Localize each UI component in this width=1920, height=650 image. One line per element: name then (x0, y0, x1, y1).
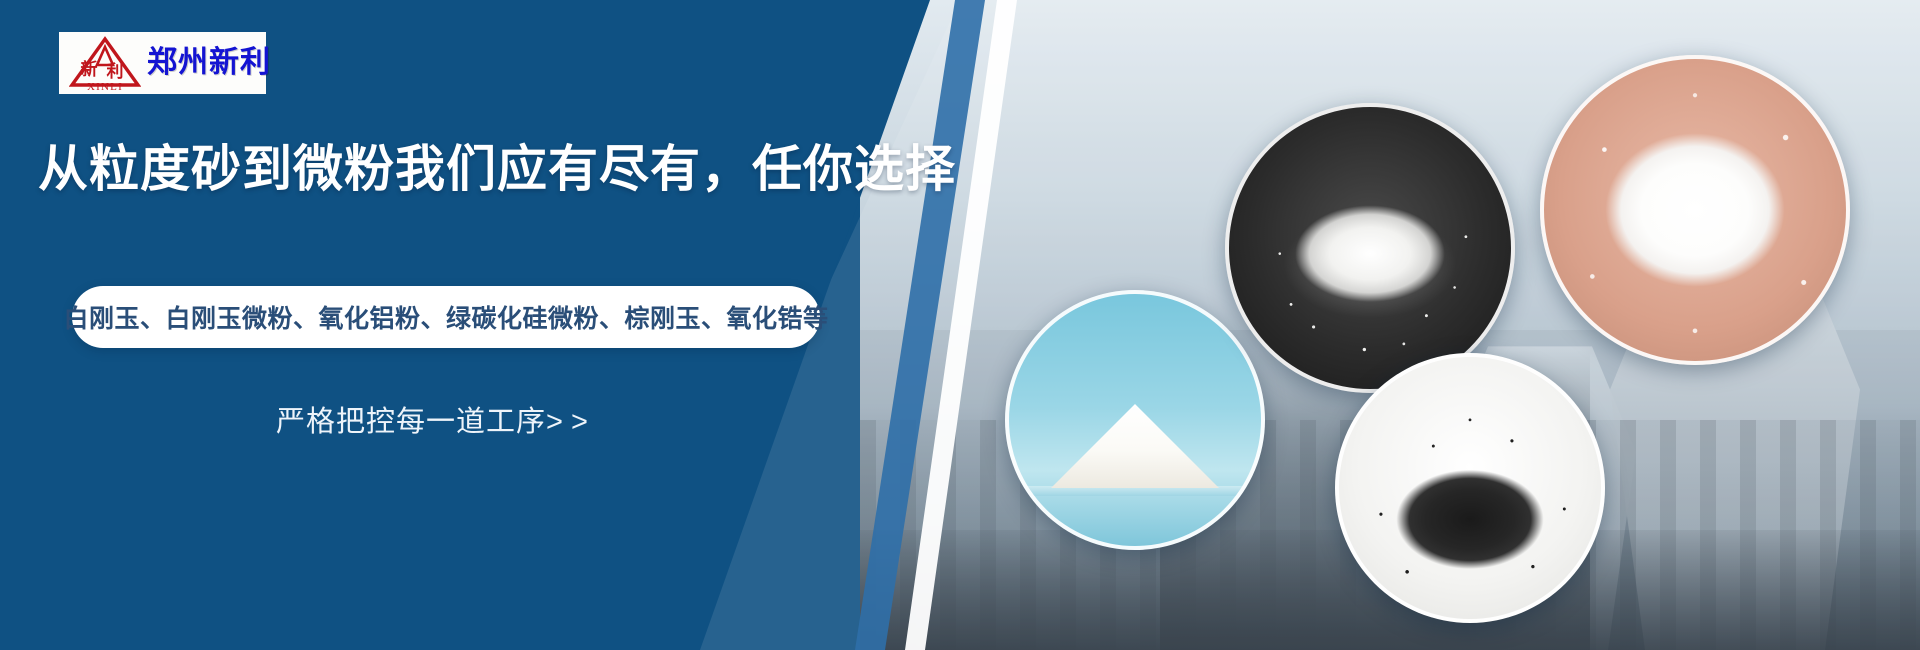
product-list-text: 白刚玉、白刚玉微粉、氧化铝粉、绿碳化硅微粉、棕刚玉、氧化锆等 (64, 299, 829, 335)
svg-text:XINLI: XINLI (87, 81, 123, 91)
powder-cone (1051, 404, 1219, 488)
product-circle-white-micro-powder (1540, 55, 1850, 365)
headline: 从粒度砂到微粉我们应有尽有，任你选择 (38, 141, 956, 197)
black-grit-particles (1339, 357, 1601, 619)
svg-text:利: 利 (107, 61, 124, 81)
cta-arrow-icon: > > (546, 406, 588, 438)
product-circle-alumina-powder (1005, 290, 1265, 550)
cta-label: 严格把控每一道工序 (276, 406, 546, 438)
product-list-pill: 白刚玉、白刚玉微粉、氧化铝粉、绿碳化硅微粉、棕刚玉、氧化锆等 (72, 286, 820, 348)
company-logo[interactable]: 新 利 XINLI 郑州新利 (59, 32, 266, 94)
product-circle-white-corundum-grit (1225, 103, 1515, 393)
svg-text:新: 新 (81, 59, 98, 79)
grit-particles (1229, 107, 1511, 389)
product-circle-black-grit (1335, 353, 1605, 623)
xinli-triangle-icon: 新 利 XINLI (69, 35, 141, 91)
powder-particles (1544, 59, 1846, 361)
hero-banner: 新 利 XINLI 郑州新利 从粒度砂到微粉我们应有尽有，任你选择 白刚玉、白刚… (0, 0, 1920, 650)
cta-link[interactable]: 严格把控每一道工序> > (276, 398, 588, 440)
logo-wordmark: 郑州新利 (147, 48, 271, 78)
